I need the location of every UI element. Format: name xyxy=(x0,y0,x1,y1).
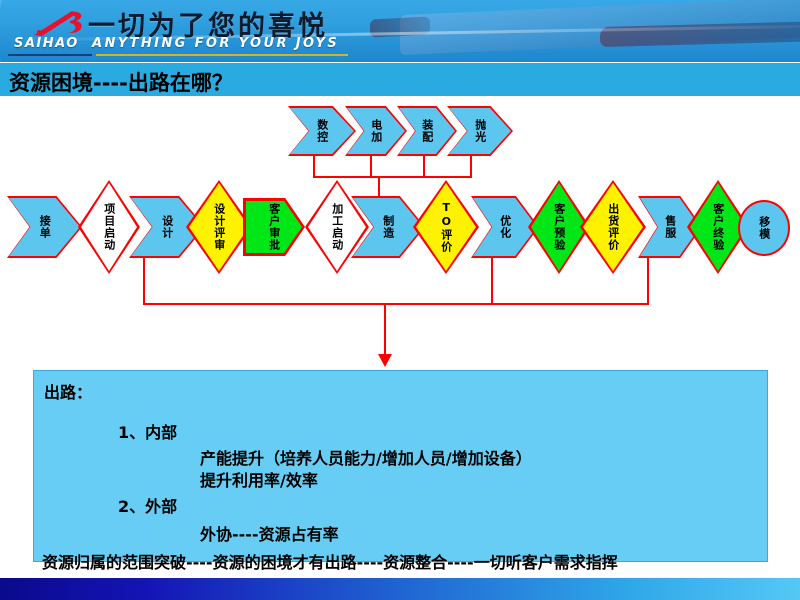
connector-arrowhead-icon xyxy=(378,354,392,367)
flow-node-label: 出货评价 xyxy=(580,180,646,274)
rule-blue xyxy=(8,54,92,56)
solution-panel: 出路： 1、内部 产能提升（培养人员能力/增加人员/增加设备） 提升利用率/效率… xyxy=(33,370,768,562)
connector-shukong-down xyxy=(313,156,315,178)
flow-node-to-pingjia[interactable]: TO评价 xyxy=(413,180,479,274)
flow-node-chuhuopingjia[interactable]: 出货评价 xyxy=(580,180,646,274)
flow-node-jiagongqidong[interactable]: 加工启动 xyxy=(305,180,369,274)
panel-item1-b: 提升利用率/效率 xyxy=(200,467,318,491)
flow-node-label: 项目启动 xyxy=(78,180,140,274)
flow-node-jiedan[interactable]: 接单 xyxy=(7,196,82,258)
flow-node-label: 加工启动 xyxy=(305,180,369,274)
flow-node-label: 数控 xyxy=(288,106,356,156)
flow-node-yimo[interactable]: 移模 xyxy=(738,200,790,256)
flow-node-label: 客户审批 xyxy=(243,198,305,256)
flow-node-kehushenpi[interactable]: 客户审批 xyxy=(243,198,305,256)
panel-item2-a: 外协----资源占有率 xyxy=(200,521,339,545)
flow-node-label: 移模 xyxy=(740,202,788,254)
flow-node-shukong[interactable]: 数控 xyxy=(288,106,356,156)
rule-gold xyxy=(96,54,348,56)
flow-diagram: 数控 电加 装配 抛光 接单 项目启动 xyxy=(0,96,800,366)
page-title: 资源困境----出路在哪？ xyxy=(9,67,233,97)
connector-sheji-down xyxy=(143,258,145,305)
connector-dianjia-down xyxy=(370,156,372,178)
slide-title-bar: 资源困境----出路在哪？ xyxy=(0,63,800,96)
connector-zhuangpei-down xyxy=(423,156,425,178)
panel-footer-text: 资源归属的范围突破----资源的困境才有出路----资源整合----一切听客户需… xyxy=(42,549,618,573)
flow-node-label: 设计评审 xyxy=(186,180,252,274)
slide-canvas: SAIHAO 一切为了您的喜悦 ANYTHING FOR YOUR JOYS 资… xyxy=(0,0,800,600)
panel-item2-num: 2、外部 xyxy=(118,493,177,517)
logo-wordmark: SAIHAO xyxy=(14,36,79,51)
connector-to-panel xyxy=(384,303,386,358)
flow-node-label: TO评价 xyxy=(413,180,479,274)
saihao-logo-icon xyxy=(32,8,92,38)
slogan-english: ANYTHING FOR YOUR JOYS xyxy=(92,36,339,51)
flow-node-shejipingshen[interactable]: 设计评审 xyxy=(186,180,252,274)
connector-youhua-down xyxy=(491,258,493,305)
footer-gradient-strip xyxy=(0,578,800,600)
flow-node-label: 接单 xyxy=(7,196,82,258)
connector-shoufu-down xyxy=(647,258,649,305)
header-banner: SAIHAO 一切为了您的喜悦 ANYTHING FOR YOUR JOYS xyxy=(0,0,800,62)
flow-node-xiangmuqidong[interactable]: 项目启动 xyxy=(78,180,140,274)
connector-paoguang-down xyxy=(470,156,472,178)
panel-item1-num: 1、内部 xyxy=(118,419,177,443)
panel-title: 出路： xyxy=(44,379,92,403)
connector-top-bus xyxy=(313,176,472,178)
panel-item1-a: 产能提升（培养人员能力/增加人员/增加设备） xyxy=(200,445,532,469)
connector-bottom-bus xyxy=(143,303,649,305)
